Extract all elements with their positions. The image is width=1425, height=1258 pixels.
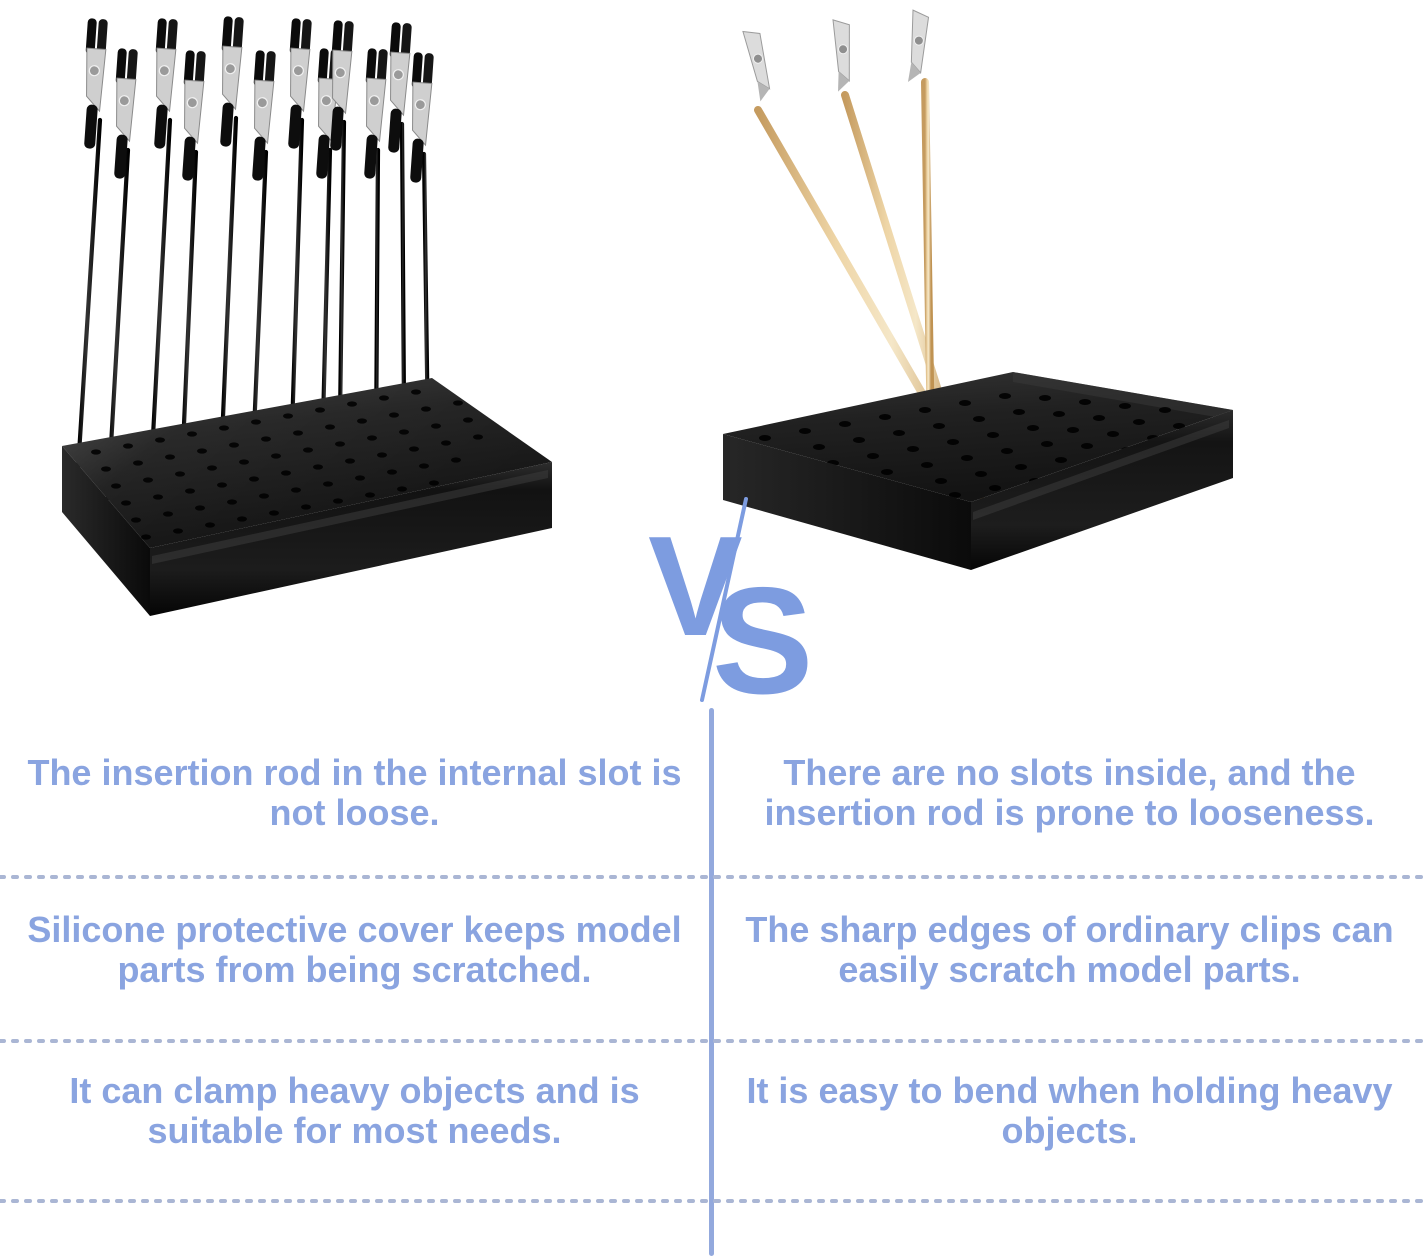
comparison-infographic: V S The insertion rod in the internal (0, 0, 1425, 1258)
feature-text-right-2: The sharp edges of ordinary clips can ea… (732, 910, 1407, 991)
dotted-line-3 (0, 1199, 1425, 1203)
left-product-illustration (0, 0, 712, 706)
vs-badge-graphic: V S (640, 495, 810, 710)
feature-text-left-2: Silicone protective cover keeps model pa… (18, 910, 691, 991)
feature-cell-left-2: Silicone protective cover keeps model pa… (0, 874, 709, 1026)
row-divider-2 (0, 1030, 1425, 1034)
vs-badge: V S (640, 495, 810, 710)
product-base-left (62, 378, 552, 616)
comparison-table: The insertion rod in the internal slot i… (0, 706, 1425, 1258)
product-photo-area: V S (0, 0, 1425, 706)
feature-text-right-1: There are no slots inside, and the inser… (732, 753, 1407, 834)
feature-cell-left-3: It can clamp heavy objects and is suitab… (0, 1036, 709, 1186)
silicone-clips-group (79, 16, 434, 183)
feature-text-right-3: It is easy to bend when holding heavy ob… (732, 1071, 1407, 1152)
feature-cell-right-3: It is easy to bend when holding heavy ob… (714, 1036, 1425, 1186)
right-product-photo (713, 0, 1425, 706)
feature-cell-right-1: There are no slots inside, and the inser… (714, 720, 1425, 866)
right-product-illustration (713, 0, 1425, 706)
left-product-photo (0, 0, 712, 706)
bare-clips-group (743, 10, 929, 101)
row-divider-1 (0, 866, 1425, 870)
feature-cell-left-1: The insertion rod in the internal slot i… (0, 720, 709, 866)
feature-text-left-3: It can clamp heavy objects and is suitab… (18, 1071, 691, 1152)
feature-cell-right-2: The sharp edges of ordinary clips can ea… (714, 874, 1425, 1026)
row-divider-3 (0, 1190, 1425, 1194)
feature-text-left-1: The insertion rod in the internal slot i… (18, 753, 691, 834)
